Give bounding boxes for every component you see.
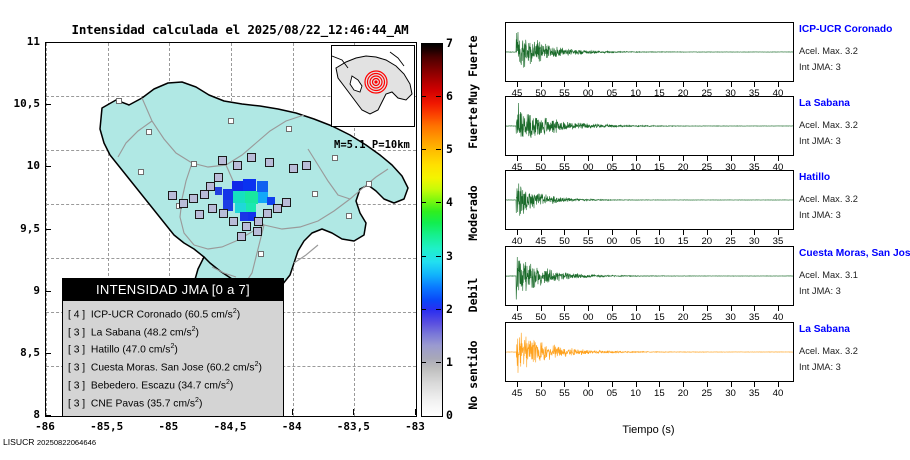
legend-row: [ 3 ] Cuesta Moras. San Jose (60.2 cm/s2… xyxy=(68,358,283,376)
map-y-tick-label: 11 xyxy=(4,35,40,48)
colorbar-tick xyxy=(421,149,426,150)
station-box-marker xyxy=(265,158,274,167)
intensity-cell xyxy=(243,179,256,191)
map-y-tick xyxy=(45,166,51,167)
colorbar-tick xyxy=(436,202,441,203)
map-x-tick-label: -83,5 xyxy=(329,420,377,433)
colorbar-tick xyxy=(421,309,426,310)
map-x-tick-label: -85 xyxy=(144,420,192,433)
waveform-intensity-label: Int JMA: 3 xyxy=(799,362,841,372)
waveform-x-tick-label: 00 xyxy=(576,388,600,399)
waveform-x-tick-label: 15 xyxy=(647,388,671,399)
colorbar-tick xyxy=(436,362,441,363)
colorbar-value-label: 6 xyxy=(446,89,453,103)
colorbar-tick xyxy=(421,202,426,203)
waveform-x-tick-label: 20 xyxy=(671,388,695,399)
colorbar-category-label: Muy Fuerte xyxy=(466,35,480,104)
station-box-marker xyxy=(263,209,272,218)
colorbar-tick xyxy=(421,96,426,97)
waveform-accel-label: Acel. Max. 3.2 xyxy=(799,120,858,130)
map-y-tick xyxy=(45,353,51,354)
colorbar-tick xyxy=(436,256,441,257)
map-y-tick-label: 10 xyxy=(4,159,40,172)
station-box-marker xyxy=(179,199,188,208)
waveform-trace xyxy=(506,247,793,305)
map-x-tick-label: -84 xyxy=(268,420,316,433)
station-box-marker xyxy=(219,209,228,218)
station-box-marker xyxy=(195,210,204,219)
map-x-tick xyxy=(353,409,354,415)
waveform-trace xyxy=(506,97,793,155)
waveform-x-tick-label: 05 xyxy=(600,388,624,399)
waveform-station-name: Cuesta Moras, San Jose xyxy=(799,248,910,259)
map-x-tick-label: -84,5 xyxy=(206,420,254,433)
colorbar-tick xyxy=(436,149,441,150)
waveform-accel-label: Acel. Max. 3.2 xyxy=(799,194,858,204)
station-box-marker xyxy=(229,217,238,226)
map-y-tick xyxy=(45,104,51,105)
colorbar-category-label: Fuerte xyxy=(466,107,480,149)
waveform-x-tick-label: 30 xyxy=(719,388,743,399)
map-x-tick xyxy=(45,409,46,415)
station-box-marker xyxy=(242,222,251,231)
station-box-marker xyxy=(289,164,298,173)
station-box-marker xyxy=(208,204,217,213)
station-box-marker xyxy=(218,156,227,165)
intensity-legend: INTENSIDAD JMA [0 a 7] [ 4 ] ICP-UCR Cor… xyxy=(62,278,284,417)
waveform-trace xyxy=(506,23,793,81)
intensity-cell xyxy=(215,187,222,195)
intensity-cell xyxy=(240,212,248,221)
waveform-intensity-label: Int JMA: 3 xyxy=(799,286,841,296)
colorbar-tick xyxy=(421,256,426,257)
legend-row: [ 3 ] CNE Pavas (35.7 cm/s2) xyxy=(68,394,283,412)
waveform-panel[interactable] xyxy=(505,22,794,82)
waveform-station-name: ICP-UCR Coronado xyxy=(799,24,892,35)
map-y-tick-label: 9,5 xyxy=(4,222,40,235)
locator-inset-map[interactable] xyxy=(331,45,415,127)
waveform-x-tick-label: 25 xyxy=(695,388,719,399)
waveform-accel-label: Acel. Max. 3.2 xyxy=(799,46,858,56)
footer-code: 20250822064646 xyxy=(37,438,96,447)
waveform-x-tick-label: 10 xyxy=(624,388,648,399)
map-y-tick-label: 8,5 xyxy=(4,346,40,359)
colorbar-tick xyxy=(436,309,441,310)
inset-landmass xyxy=(332,46,414,126)
colorbar-value-label: 1 xyxy=(446,355,453,369)
colorbar-category-label: No sentido xyxy=(466,341,480,410)
legend-list: [ 4 ] ICP-UCR Coronado (60.5 cm/s2)[ 3 ]… xyxy=(63,301,283,416)
intensity-cell xyxy=(232,181,243,191)
waveform-x-tick-label: 50 xyxy=(529,388,553,399)
map-x-tick-label: -83 xyxy=(391,420,439,433)
station-box-marker xyxy=(233,161,242,170)
time-axis-label: Tiempo (s) xyxy=(505,424,792,436)
legend-row: [ 3 ] Hatillo (47.0 cm/s2) xyxy=(68,340,283,358)
map-x-tick xyxy=(292,409,293,415)
intensity-cell xyxy=(223,189,233,200)
station-box-marker xyxy=(237,232,246,241)
colorbar-tick xyxy=(421,362,426,363)
colorbar-value-label: 3 xyxy=(446,249,453,263)
map-y-tick xyxy=(45,415,51,416)
waveform-station-name: La Sabana xyxy=(799,98,850,109)
waveform-x-tick-label: 45 xyxy=(505,388,529,399)
waveform-panel[interactable] xyxy=(505,322,794,382)
waveform-intensity-label: Int JMA: 3 xyxy=(799,62,841,72)
map-y-tick xyxy=(45,42,51,43)
map-y-tick-label: 9 xyxy=(4,284,40,297)
map-x-tick-label: -85,5 xyxy=(83,420,131,433)
colorbar-value-label: 7 xyxy=(446,36,453,50)
legend-title: INTENSIDAD JMA [0 a 7] xyxy=(63,279,283,301)
station-box-marker xyxy=(254,217,263,226)
station-box-marker xyxy=(253,227,262,236)
colorbar-category-label: Debil xyxy=(466,278,480,313)
colorbar-value-label: 4 xyxy=(446,195,453,209)
intensity-cell xyxy=(233,191,245,203)
waveform-accel-label: Acel. Max. 3.1 xyxy=(799,270,858,280)
page-title: Intensidad calculada el 2025/08/22_12:46… xyxy=(70,22,410,37)
station-box-marker xyxy=(273,204,282,213)
waveform-x-tick-label: 40 xyxy=(766,388,790,399)
colorbar-value-label: 2 xyxy=(446,302,453,316)
waveform-accel-label: Acel. Max. 3.2 xyxy=(799,346,858,356)
waveform-x-tick-label: 55 xyxy=(552,388,576,399)
colorbar-value-label: 5 xyxy=(446,142,453,156)
waveform-panel[interactable] xyxy=(505,246,794,306)
waveform-x-tick-label: 35 xyxy=(742,388,766,399)
waveform-trace xyxy=(506,171,793,229)
colorbar-category-label: Moderado xyxy=(466,185,480,240)
footer-agency: LISUCR xyxy=(3,437,35,447)
waveform-intensity-label: Int JMA: 3 xyxy=(799,136,841,146)
station-box-marker xyxy=(200,190,209,199)
map-x-tick-label: -86 xyxy=(21,420,69,433)
magnitude-depth-label: M=5.1 P=10km xyxy=(334,139,410,151)
footer: LISUCR 20250822064646 xyxy=(3,437,96,447)
colorbar-value-label: 0 xyxy=(446,408,453,422)
station-box-marker xyxy=(168,191,177,200)
intensity-cell xyxy=(257,181,268,192)
map-x-tick xyxy=(415,409,416,415)
legend-row: [ 3 ] La Sabana (48.2 cm/s2) xyxy=(68,323,283,341)
legend-row: [ 3 ] Bebedero. Escazu (34.7 cm/s2) xyxy=(68,376,283,394)
station-box-marker xyxy=(247,153,256,162)
waveform-station-name: Hatillo xyxy=(799,172,830,183)
station-box-marker xyxy=(302,161,311,170)
legend-row: [ 4 ] ICP-UCR Coronado (60.5 cm/s2) xyxy=(68,305,283,323)
waveform-station-name: La Sabana xyxy=(799,324,850,335)
colorbar-tick xyxy=(436,96,441,97)
waveform-intensity-label: Int JMA: 3 xyxy=(799,210,841,220)
waveform-panel[interactable] xyxy=(505,170,794,230)
map-y-tick xyxy=(45,291,51,292)
station-box-marker xyxy=(282,198,291,207)
station-box-marker xyxy=(189,194,198,203)
station-box-marker xyxy=(214,173,223,182)
map-y-tick-label: 10,5 xyxy=(4,97,40,110)
waveform-panel[interactable] xyxy=(505,96,794,156)
waveform-trace xyxy=(506,323,793,381)
map-y-tick xyxy=(45,229,51,230)
waveform-x-tick-labels: 455055000510152025303540 xyxy=(481,388,816,401)
